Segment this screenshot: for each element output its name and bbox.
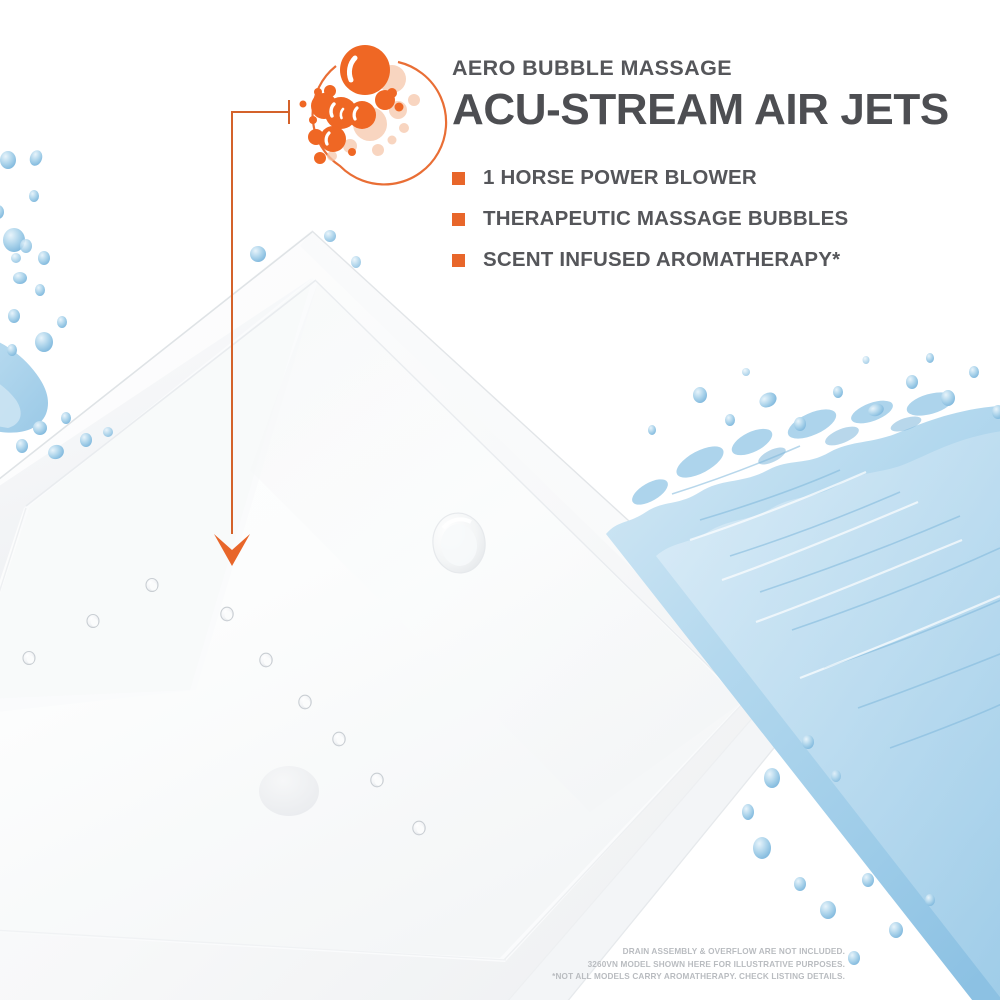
feature-label: SCENT INFUSED AROMATHERAPY* bbox=[483, 248, 840, 272]
disclaimer-line-3: *NOT ALL MODELS CARRY AROMATHERAPY. CHEC… bbox=[552, 971, 845, 984]
disclaimer-text: DRAIN ASSEMBLY & OVERFLOW ARE NOT INCLUD… bbox=[552, 946, 845, 984]
feature-list: 1 HORSE POWER BLOWER THERAPEUTIC MASSAGE… bbox=[452, 158, 992, 281]
bullet-square-icon bbox=[452, 213, 465, 226]
list-item: SCENT INFUSED AROMATHERAPY* bbox=[452, 240, 992, 281]
eyebrow-heading: AERO BUBBLE MASSAGE bbox=[452, 58, 992, 80]
product-feature-image: AERO BUBBLE MASSAGE ACU-STREAM AIR JETS … bbox=[0, 0, 1000, 1000]
bullet-square-icon bbox=[452, 254, 465, 267]
disclaimer-line-1: DRAIN ASSEMBLY & OVERFLOW ARE NOT INCLUD… bbox=[552, 946, 845, 959]
feature-label: 1 HORSE POWER BLOWER bbox=[483, 166, 757, 190]
feature-text-block: AERO BUBBLE MASSAGE ACU-STREAM AIR JETS … bbox=[452, 58, 992, 281]
bullet-square-icon bbox=[452, 172, 465, 185]
list-item: 1 HORSE POWER BLOWER bbox=[452, 158, 992, 199]
page-title: ACU-STREAM AIR JETS bbox=[452, 87, 992, 133]
list-item: THERAPEUTIC MASSAGE BUBBLES bbox=[452, 199, 992, 240]
feature-label: THERAPEUTIC MASSAGE BUBBLES bbox=[483, 207, 848, 231]
disclaimer-line-2: 3260VN MODEL SHOWN HERE FOR ILLUSTRATIVE… bbox=[552, 959, 845, 972]
